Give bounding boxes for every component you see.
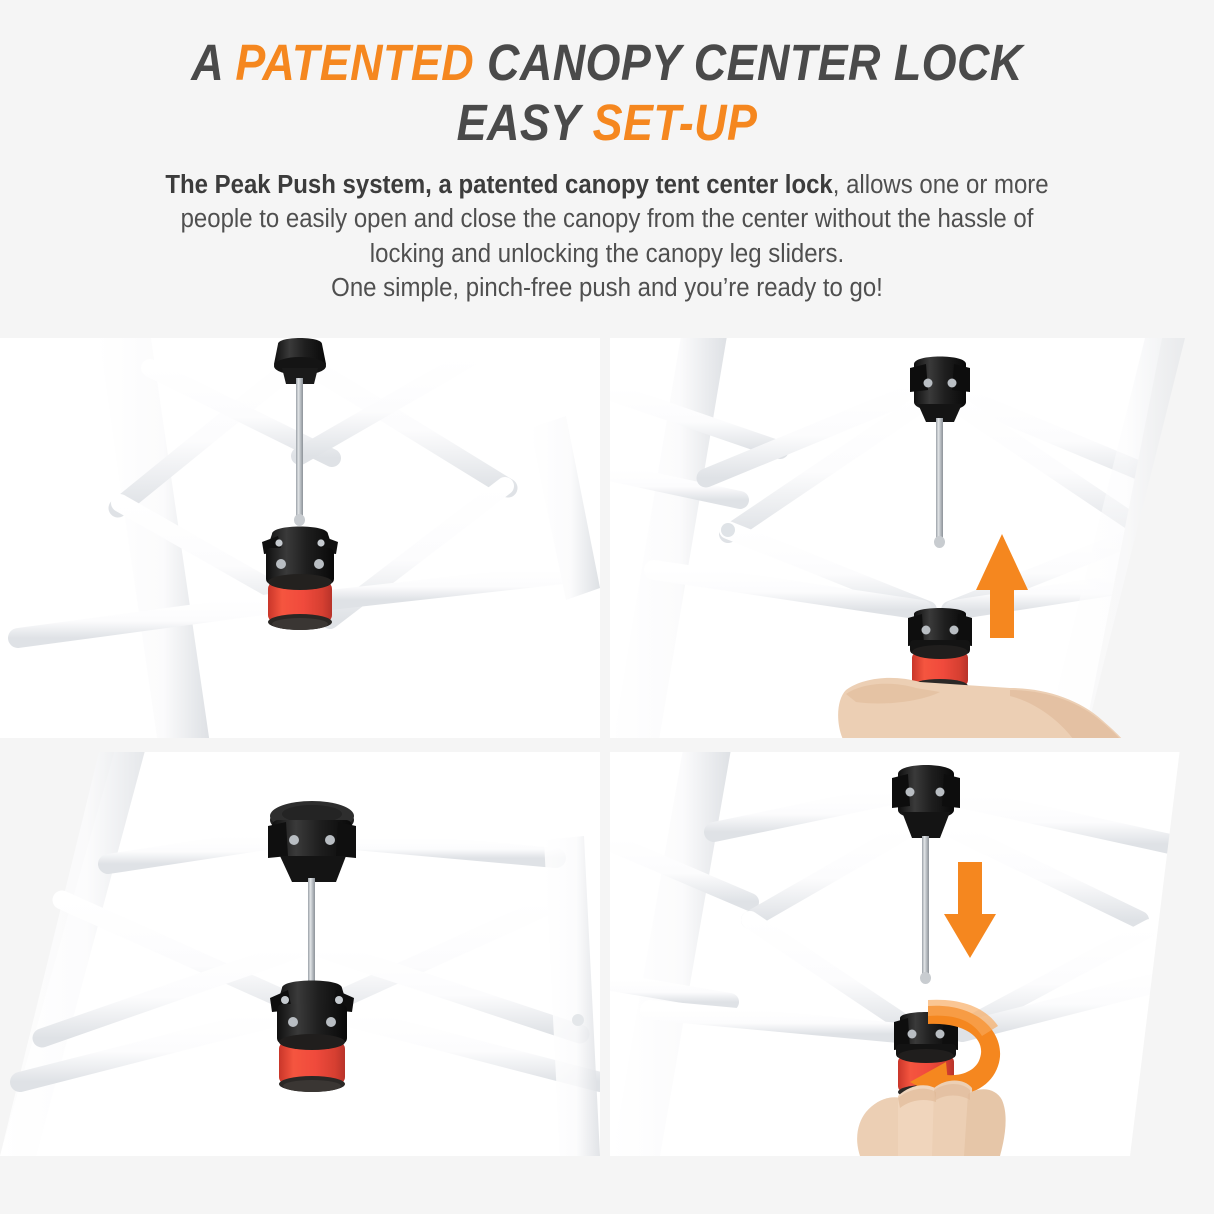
canopy-frame-svg-3	[0, 752, 600, 1156]
description-line-4: One simple, pinch-free push and you’re r…	[109, 271, 1105, 305]
headline-word-easy: EASY	[457, 94, 593, 151]
center-lock-hub	[908, 608, 972, 693]
frame-illustration-3	[0, 752, 600, 1156]
product-feature-page: A PATENTED CANOPY CENTER LOCK EASY SET-U…	[0, 0, 1214, 1214]
headline-word-setup: SET-UP	[593, 94, 758, 151]
frame-illustration-2	[610, 338, 1214, 738]
description-bold-lead: The Peak Push system, a patented canopy …	[165, 171, 832, 199]
truss-joint-right	[572, 1014, 584, 1026]
headline-word-patented: PATENTED	[235, 34, 474, 91]
canopy-frame-svg-1	[0, 338, 600, 738]
description-line-1-rest: , allows one or more	[833, 171, 1049, 199]
truss-joint-left	[721, 523, 735, 537]
canopy-frame-svg-2	[610, 338, 1214, 738]
frame-illustration-1	[0, 338, 600, 738]
page-title: A PATENTED CANOPY CENTER LOCK EASY SET-U…	[0, 0, 1214, 148]
headline-word-a: A	[191, 34, 235, 91]
panel-locked-extended	[0, 752, 600, 1156]
panel-collapsed-low-hub	[0, 338, 600, 738]
description-line-1: The Peak Push system, a patented canopy …	[109, 168, 1105, 202]
center-lock-hub	[270, 981, 354, 1093]
description-line-3: locking and unlocking the canopy leg sli…	[109, 237, 1105, 271]
headline-line-1: A PATENTED CANOPY CENTER LOCK	[73, 38, 1141, 88]
panel-release-down	[610, 752, 1214, 1156]
description-block: The Peak Push system, a patented canopy …	[109, 168, 1105, 306]
canopy-frame-svg-4	[610, 752, 1214, 1156]
feature-image-grid	[0, 338, 1214, 1156]
headline-line-2: EASY SET-UP	[73, 98, 1141, 148]
panel-push-up	[610, 338, 1214, 738]
push-rod	[308, 878, 315, 988]
headline-word-c: CANOPY CENTER LOCK	[474, 34, 1023, 91]
frame-illustration-4	[610, 752, 1214, 1156]
description-line-2: people to easily open and close the cano…	[109, 202, 1105, 236]
center-lock-hub	[262, 527, 338, 631]
